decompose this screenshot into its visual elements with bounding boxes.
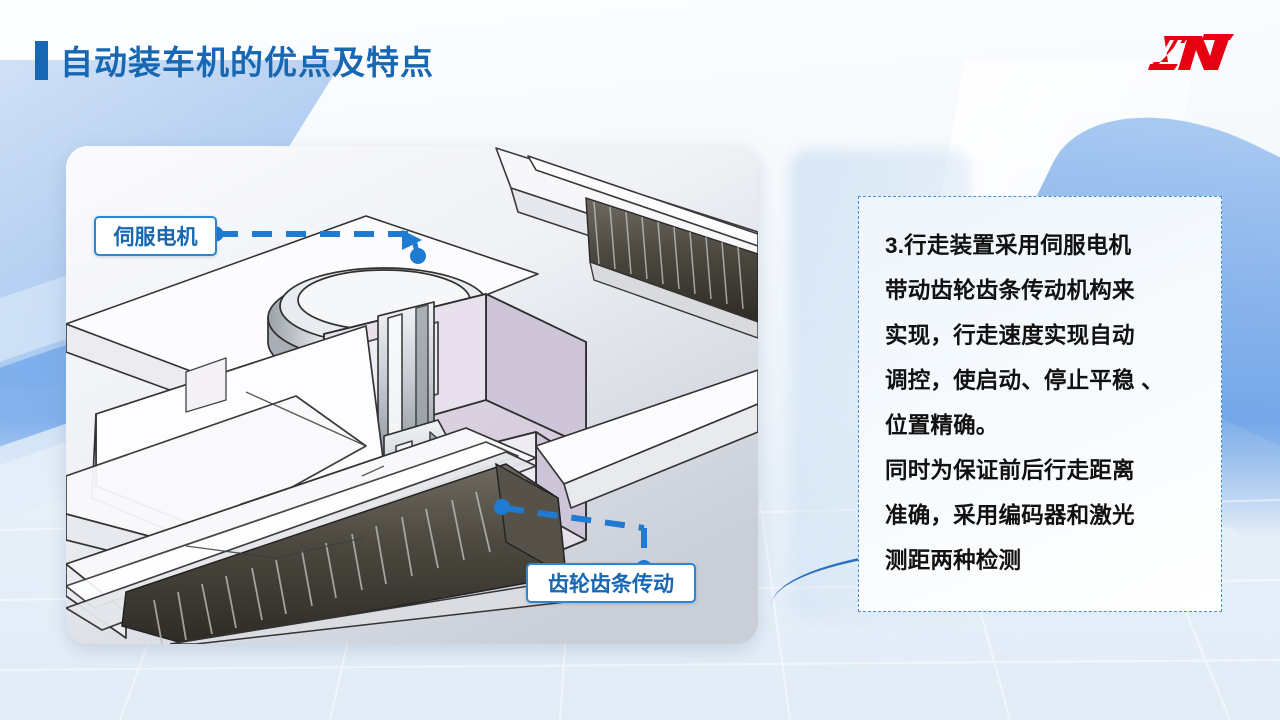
callout-servo-motor[interactable]: 伺服电机 bbox=[94, 216, 217, 256]
slide: 自动装车机的优点及特点 bbox=[0, 0, 1280, 720]
callout-gear-rack[interactable]: 齿轮齿条传动 bbox=[526, 563, 696, 603]
content-line-4: 调控，使启动、停止平稳 、 bbox=[885, 358, 1199, 403]
content-panel: 3.行走装置采用伺服电机 带动齿轮齿条传动机构来 实现，行走速度实现自动 调控，… bbox=[858, 196, 1222, 612]
content-line-6: 同时为保证前后行走距离 bbox=[885, 448, 1199, 493]
content-line-3: 实现，行走速度实现自动 bbox=[885, 313, 1199, 358]
content-line-2: 带动齿轮齿条传动机构来 bbox=[885, 268, 1199, 313]
slide-header: 自动装车机的优点及特点 bbox=[0, 0, 1280, 108]
content-line-7: 准确，采用编码器和激光 bbox=[885, 493, 1199, 538]
page-title: 自动装车机的优点及特点 bbox=[60, 36, 434, 84]
content-line-8: 测距两种检测 bbox=[885, 538, 1199, 583]
content-line-1: 3.行走装置采用伺服电机 bbox=[885, 223, 1199, 268]
content-line-5: 位置精确。 bbox=[885, 403, 1199, 448]
zn-logo-icon bbox=[1144, 24, 1240, 80]
title-marker bbox=[35, 41, 48, 80]
